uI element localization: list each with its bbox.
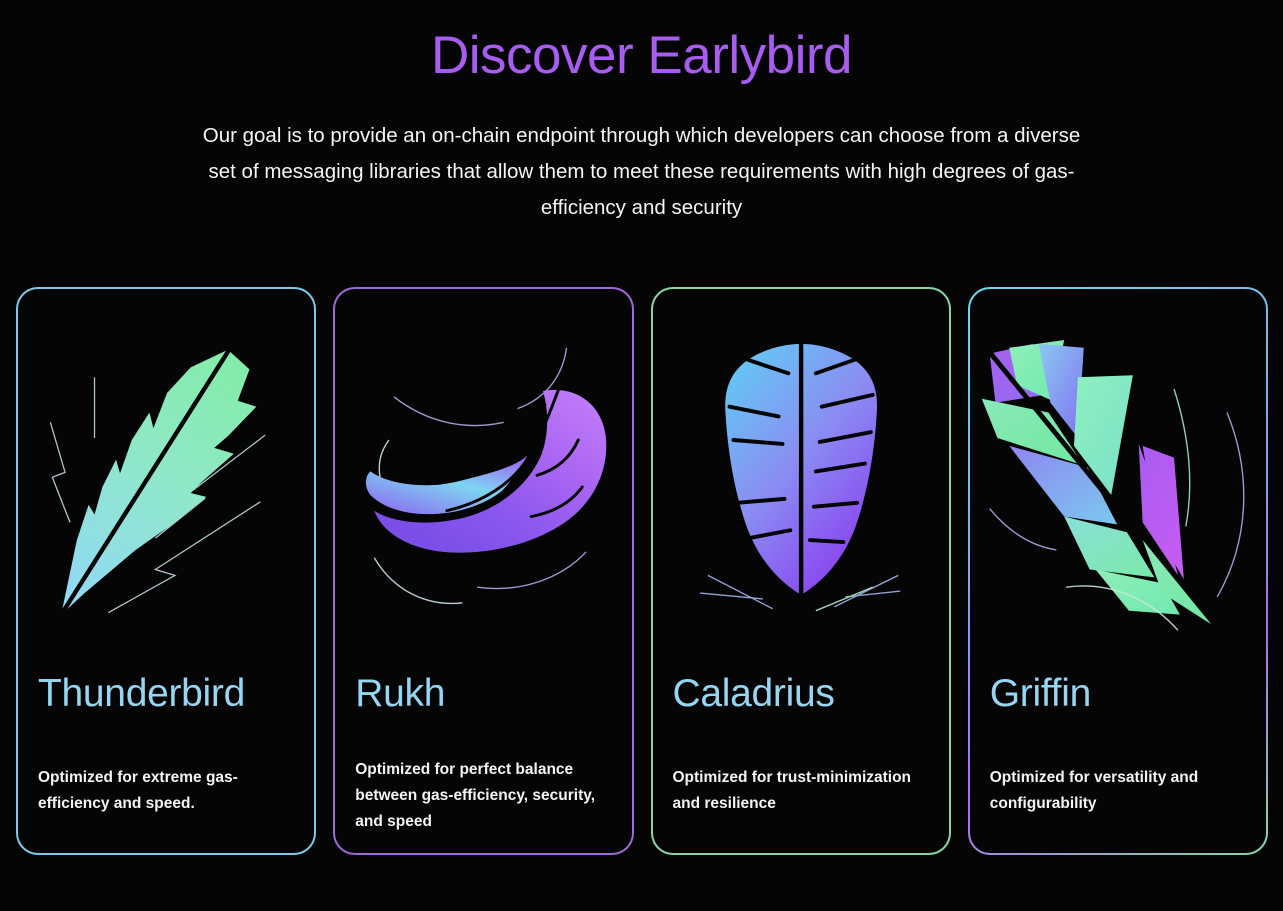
- card-griffin[interactable]: Griffin Optimized for versatility and co…: [968, 287, 1268, 855]
- discover-earlybird-page: Discover Earlybird Our goal is to provid…: [0, 0, 1283, 911]
- page-subtitle: Our goal is to provide an on-chain endpo…: [192, 118, 1092, 226]
- card-caladrius[interactable]: Caladrius Optimized for trust-minimizati…: [651, 287, 951, 855]
- feather-lightning-icon: [18, 327, 314, 657]
- card-inner: Griffin Optimized for versatility and co…: [970, 289, 1266, 853]
- feather-curved-icon: [335, 327, 631, 657]
- feather-segmented-icon: [970, 327, 1266, 657]
- card-rukh[interactable]: Rukh Optimized for perfect balance betwe…: [333, 287, 633, 855]
- card-description: Optimized for extreme gas-efficiency and…: [38, 765, 296, 817]
- page-title: Discover Earlybird: [0, 24, 1283, 88]
- card-title: Rukh: [355, 670, 445, 718]
- card-title: Thunderbird: [38, 670, 245, 718]
- card-title: Caladrius: [673, 670, 835, 718]
- card-inner: Thunderbird Optimized for extreme gas-ef…: [18, 289, 314, 853]
- card-thunderbird[interactable]: Thunderbird Optimized for extreme gas-ef…: [16, 287, 316, 855]
- card-description: Optimized for perfect balance between ga…: [355, 757, 613, 835]
- feather-shield-icon: [653, 327, 949, 657]
- card-inner: Caladrius Optimized for trust-minimizati…: [653, 289, 949, 853]
- card-grid: Thunderbird Optimized for extreme gas-ef…: [16, 287, 1268, 855]
- card-description: Optimized for versatility and configurab…: [990, 765, 1248, 817]
- card-title: Griffin: [990, 670, 1091, 718]
- card-description: Optimized for trust-minimization and res…: [673, 765, 931, 817]
- card-inner: Rukh Optimized for perfect balance betwe…: [335, 289, 631, 853]
